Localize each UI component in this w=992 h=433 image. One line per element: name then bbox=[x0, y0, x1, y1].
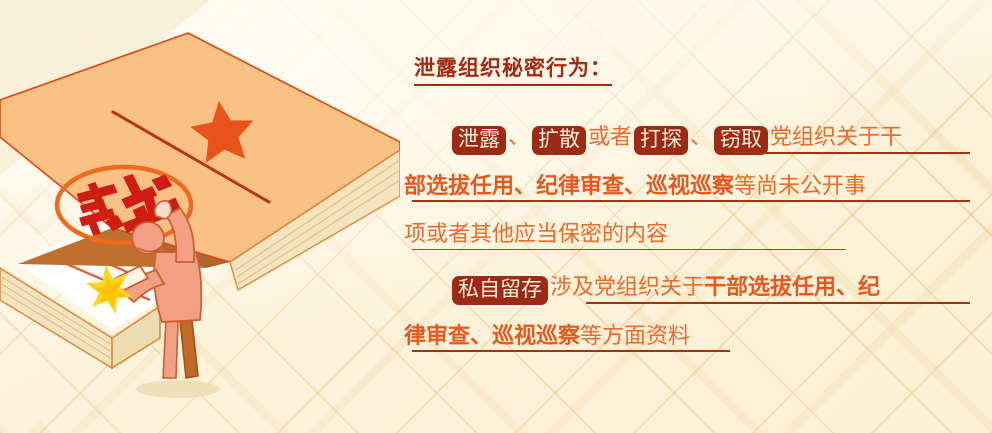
tag-steal: 窃取 bbox=[714, 126, 768, 156]
text-tail-4: 等方面资料 bbox=[580, 318, 690, 350]
tag-spread: 扩散 bbox=[532, 126, 586, 156]
text-bold-topics-3: 律审查、巡视巡察 bbox=[404, 318, 580, 350]
text-sep-1: 、 bbox=[508, 119, 530, 151]
paragraph-leak-line-2: 部选拔任用、纪律审查、巡视巡察 等尚未公开事 bbox=[404, 160, 980, 208]
paragraph-leak-line-1: 泄露 、 扩散 或者 打探 、 窃取 党组织关于干 bbox=[404, 112, 980, 160]
paragraph-leak: 泄露 、 扩散 或者 打探 、 窃取 党组织关于干 部选拔任用、纪律审查、巡视巡… bbox=[404, 112, 980, 256]
text-bold-topics-1: 部选拔任用、纪律审查、巡视巡察 bbox=[404, 168, 734, 200]
text-column: 泄露组织秘密行为： 泄露 、 扩散 或者 打探 、 窃取 党组织关于干 bbox=[404, 0, 980, 433]
section-heading: 泄露组织秘密行为： bbox=[414, 57, 612, 86]
paragraph-retain: 私自留存 涉及党组织关于 干部选拔任用、纪 律审查、巡视巡察 等方面资料 bbox=[404, 262, 980, 358]
secret-document-photographed-illustration bbox=[0, 0, 400, 433]
line-underline bbox=[586, 302, 970, 304]
text-tail-2: 等尚未公开事 bbox=[734, 168, 866, 200]
text-tail-1: 党组织关于干 bbox=[770, 119, 902, 151]
text-lead-2: 涉及党组织关于 bbox=[550, 269, 704, 301]
paragraph-retain-line-2: 律审查、巡视巡察 等方面资料 bbox=[404, 310, 980, 358]
text-tail-3: 项或者其他应当保密的内容 bbox=[404, 216, 668, 248]
infographic-canvas: 泄露组织秘密行为： 泄露 、 扩散 或者 打探 、 窃取 党组织关于干 bbox=[0, 0, 992, 433]
line-underline bbox=[734, 152, 970, 154]
line-underline bbox=[412, 200, 970, 202]
text-sep-2: 、 bbox=[690, 119, 712, 151]
line-underline bbox=[412, 249, 846, 251]
tag-private-retention: 私自留存 bbox=[452, 276, 548, 306]
tag-probe: 打探 bbox=[634, 126, 688, 156]
paragraph-retain-line-1: 私自留存 涉及党组织关于 干部选拔任用、纪 bbox=[404, 262, 980, 310]
line-underline bbox=[412, 350, 730, 352]
paragraph-leak-line-3: 项或者其他应当保密的内容 bbox=[404, 208, 980, 256]
text-or: 或者 bbox=[588, 119, 632, 151]
text-bold-topics-2: 干部选拔任用、纪 bbox=[704, 269, 880, 301]
tag-leak: 泄露 bbox=[452, 126, 506, 156]
